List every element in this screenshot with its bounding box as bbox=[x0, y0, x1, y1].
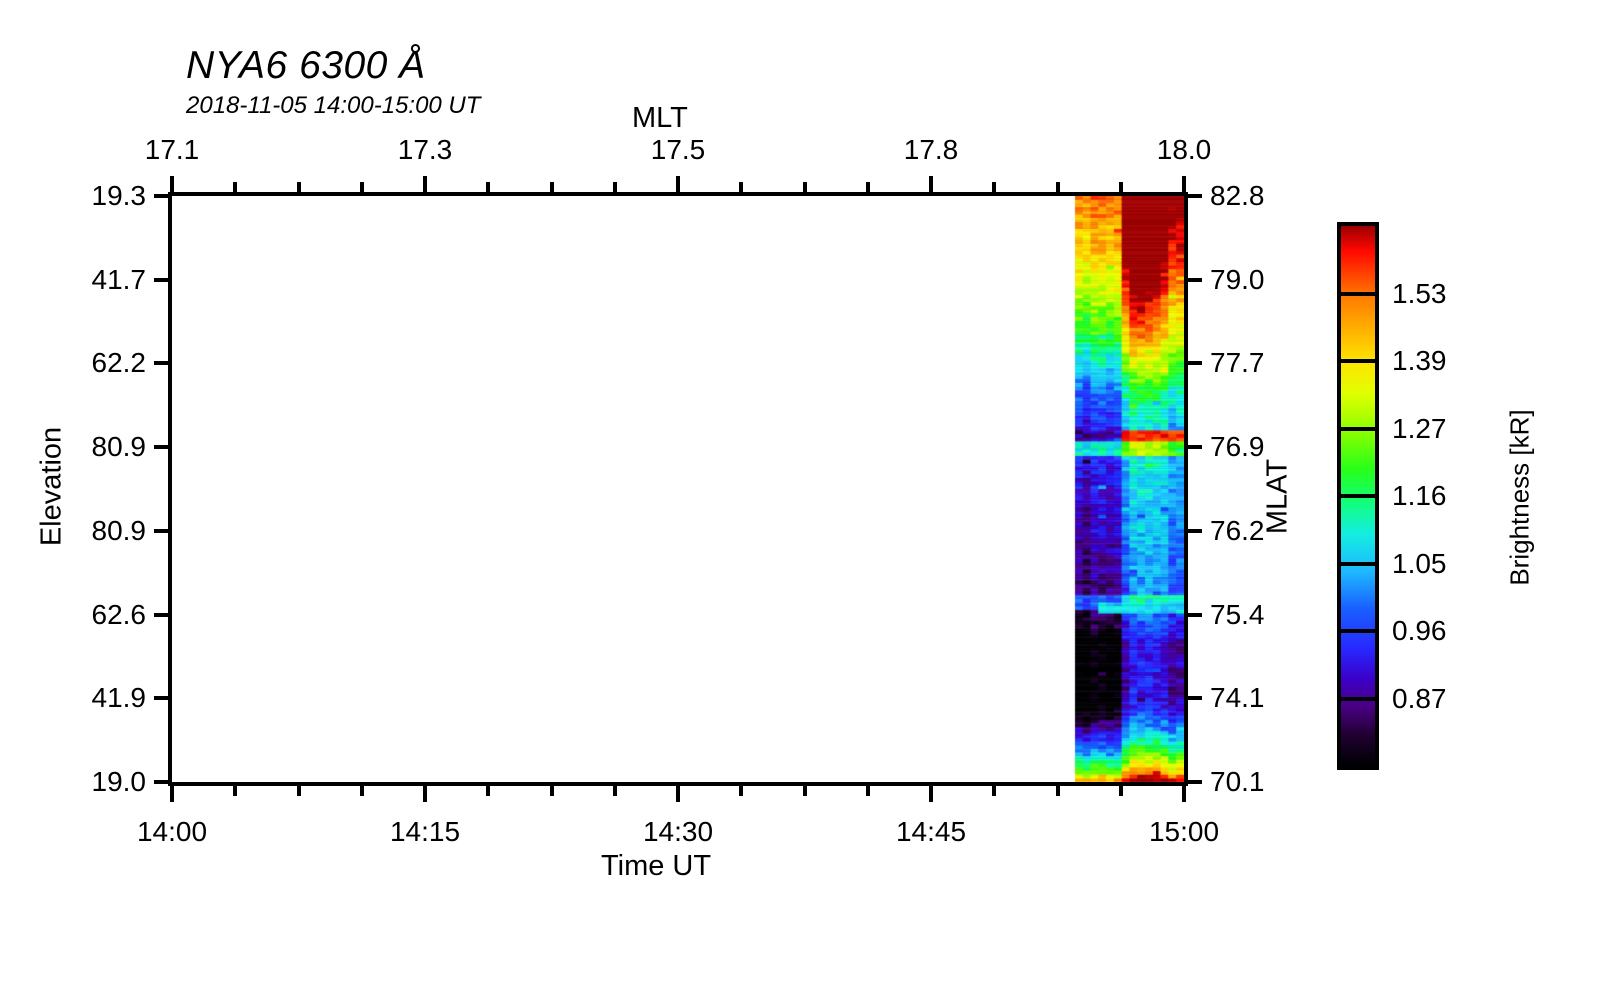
top-tick-label-3: 17.8 bbox=[904, 134, 959, 166]
page-title: NYA6 6300 Å bbox=[186, 44, 426, 88]
bottom-tick-label-1: 14:15 bbox=[390, 816, 460, 848]
bottom-tick-minor-3-2 bbox=[1056, 784, 1060, 796]
left-tick-label-5: 62.6 bbox=[56, 599, 146, 631]
right-tick-1 bbox=[1184, 278, 1202, 282]
left-tick-6 bbox=[154, 696, 172, 700]
top-tick-label-4: 18.0 bbox=[1157, 134, 1212, 166]
right-axis-title: MLAT bbox=[1262, 427, 1295, 567]
top-tick-major-4 bbox=[1182, 176, 1186, 194]
bottom-tick-major-2 bbox=[676, 784, 680, 802]
top-tick-minor-0-3 bbox=[360, 182, 364, 194]
left-tick-label-7: 19.0 bbox=[56, 766, 146, 798]
bottom-tick-minor-0-1 bbox=[233, 784, 237, 796]
top-tick-major-2 bbox=[676, 176, 680, 194]
bottom-tick-minor-0-3 bbox=[360, 784, 364, 796]
top-tick-minor-2-1 bbox=[739, 182, 743, 194]
right-tick-label-2: 77.7 bbox=[1210, 347, 1265, 379]
left-tick-label-2: 62.2 bbox=[56, 347, 146, 379]
colorbar-tick-label-2: 1.27 bbox=[1392, 413, 1447, 445]
keogram-plot-area[interactable] bbox=[168, 192, 1188, 786]
top-tick-label-1: 17.3 bbox=[398, 134, 453, 166]
left-tick-7 bbox=[154, 780, 172, 784]
right-tick-0 bbox=[1184, 194, 1202, 198]
right-tick-label-0: 82.8 bbox=[1210, 180, 1265, 212]
colorbar-separator-1 bbox=[1341, 292, 1375, 296]
bottom-tick-minor-2-2 bbox=[803, 784, 807, 796]
top-tick-minor-0-1 bbox=[233, 182, 237, 194]
top-tick-minor-1-1 bbox=[486, 182, 490, 194]
left-tick-label-1: 41.7 bbox=[56, 264, 146, 296]
left-tick-label-6: 41.9 bbox=[56, 682, 146, 714]
colorbar-tick-label-3: 1.16 bbox=[1392, 480, 1447, 512]
top-tick-major-0 bbox=[170, 176, 174, 194]
bottom-tick-minor-1-2 bbox=[550, 784, 554, 796]
bottom-tick-label-4: 15:00 bbox=[1149, 816, 1219, 848]
colorbar-tick-label-5: 0.96 bbox=[1392, 615, 1447, 647]
right-tick-7 bbox=[1184, 780, 1202, 784]
colorbar-separator-5 bbox=[1341, 562, 1375, 566]
colorbar-tick-label-1: 1.39 bbox=[1392, 345, 1447, 377]
top-axis-title: MLT bbox=[632, 102, 688, 135]
right-tick-label-7: 70.1 bbox=[1210, 766, 1265, 798]
left-tick-label-4: 80.9 bbox=[56, 515, 146, 547]
bottom-tick-label-3: 14:45 bbox=[896, 816, 966, 848]
left-tick-0 bbox=[154, 194, 172, 198]
colorbar-separator-7 bbox=[1341, 697, 1375, 701]
top-tick-minor-3-2 bbox=[1056, 182, 1060, 194]
colorbar-axis-title: Brightness [kR] bbox=[1505, 378, 1536, 618]
right-tick-6 bbox=[1184, 696, 1202, 700]
colorbar-separator-2 bbox=[1341, 359, 1375, 363]
colorbar-tick-label-0: 1.53 bbox=[1392, 278, 1447, 310]
right-tick-3 bbox=[1184, 445, 1202, 449]
bottom-tick-minor-3-1 bbox=[992, 784, 996, 796]
bottom-tick-major-4 bbox=[1182, 784, 1186, 802]
left-tick-label-3: 80.9 bbox=[56, 431, 146, 463]
right-tick-label-4: 76.2 bbox=[1210, 515, 1265, 547]
left-tick-1 bbox=[154, 278, 172, 282]
left-tick-3 bbox=[154, 445, 172, 449]
bottom-tick-label-0: 14:00 bbox=[137, 816, 207, 848]
top-tick-label-2: 17.5 bbox=[651, 134, 706, 166]
colorbar[interactable] bbox=[1337, 222, 1379, 770]
bottom-axis-title: Time UT bbox=[601, 850, 711, 883]
keogram-image bbox=[172, 196, 1184, 782]
top-tick-minor-1-2 bbox=[550, 182, 554, 194]
bottom-tick-label-2: 14:30 bbox=[643, 816, 713, 848]
top-tick-major-1 bbox=[423, 176, 427, 194]
bottom-tick-minor-1-3 bbox=[613, 784, 617, 796]
bottom-tick-minor-2-1 bbox=[739, 784, 743, 796]
colorbar-tick-label-4: 1.05 bbox=[1392, 548, 1447, 580]
top-tick-minor-0-2 bbox=[297, 182, 301, 194]
page-subtitle: 2018-11-05 14:00-15:00 UT bbox=[186, 92, 480, 120]
bottom-tick-minor-3-3 bbox=[1119, 784, 1123, 796]
left-tick-4 bbox=[154, 529, 172, 533]
bottom-tick-major-1 bbox=[423, 784, 427, 802]
right-tick-label-6: 74.1 bbox=[1210, 682, 1265, 714]
colorbar-separator-6 bbox=[1341, 629, 1375, 633]
colorbar-separator-3 bbox=[1341, 427, 1375, 431]
right-tick-2 bbox=[1184, 361, 1202, 365]
colorbar-tick-label-6: 0.87 bbox=[1392, 683, 1447, 715]
top-tick-minor-3-3 bbox=[1119, 182, 1123, 194]
top-tick-major-3 bbox=[929, 176, 933, 194]
top-tick-minor-2-2 bbox=[803, 182, 807, 194]
right-tick-label-3: 76.9 bbox=[1210, 431, 1265, 463]
top-tick-minor-1-3 bbox=[613, 182, 617, 194]
right-tick-4 bbox=[1184, 529, 1202, 533]
top-tick-minor-3-1 bbox=[992, 182, 996, 194]
colorbar-separator-4 bbox=[1341, 494, 1375, 498]
left-tick-label-0: 19.3 bbox=[56, 180, 146, 212]
top-tick-minor-2-3 bbox=[866, 182, 870, 194]
bottom-tick-major-3 bbox=[929, 784, 933, 802]
bottom-tick-major-0 bbox=[170, 784, 174, 802]
right-tick-label-1: 79.0 bbox=[1210, 264, 1265, 296]
left-tick-5 bbox=[154, 613, 172, 617]
right-tick-5 bbox=[1184, 613, 1202, 617]
left-tick-2 bbox=[154, 361, 172, 365]
bottom-tick-minor-0-2 bbox=[297, 784, 301, 796]
top-tick-label-0: 17.1 bbox=[145, 134, 200, 166]
bottom-tick-minor-1-1 bbox=[486, 784, 490, 796]
bottom-tick-minor-2-3 bbox=[866, 784, 870, 796]
right-tick-label-5: 75.4 bbox=[1210, 599, 1265, 631]
